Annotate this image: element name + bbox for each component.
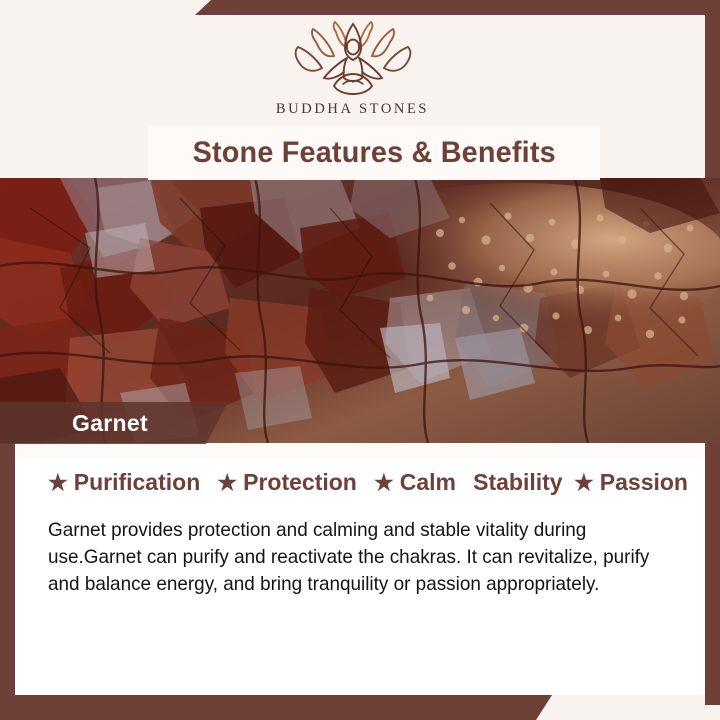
- star-icon: ★: [574, 472, 594, 494]
- benefit-item-stability: Stability: [473, 469, 562, 496]
- benefit-label: Stability: [473, 469, 562, 496]
- content-area: ★ Purification ★ Protection ★ Calm Stabi…: [15, 443, 705, 695]
- stone-description: Garnet provides protection and calming a…: [48, 517, 675, 598]
- star-icon: ★: [48, 472, 68, 494]
- benefit-item-calm: ★ Calm: [374, 469, 456, 496]
- star-icon: ★: [374, 472, 394, 494]
- section-title-panel: Stone Features & Benefits: [148, 126, 600, 180]
- page-title: Stone Features & Benefits: [192, 136, 555, 170]
- bottom-border-accent: [0, 695, 552, 720]
- benefit-item-protection: ★ Protection: [217, 469, 356, 496]
- benefit-label: Calm: [400, 469, 456, 496]
- star-icon: ★: [217, 472, 237, 494]
- top-border-accent: [195, 0, 720, 15]
- infographic-page: BUDDHA STONES: [0, 0, 720, 720]
- benefit-item-purification: ★ Purification: [48, 469, 200, 496]
- benefit-item-passion: ★ Passion: [574, 469, 688, 496]
- benefits-row: ★ Purification ★ Protection ★ Calm Stabi…: [48, 469, 688, 496]
- benefit-label: Purification: [74, 469, 201, 496]
- brand-block: BUDDHA STONES: [0, 20, 705, 118]
- benefit-label: Protection: [243, 469, 357, 496]
- stone-name-text: Garnet: [0, 410, 148, 437]
- lotus-meditation-figure-icon: [278, 20, 428, 98]
- brand-name: BUDDHA STONES: [276, 101, 429, 118]
- stone-name-label: Garnet: [0, 402, 228, 444]
- benefit-label: Passion: [600, 469, 688, 496]
